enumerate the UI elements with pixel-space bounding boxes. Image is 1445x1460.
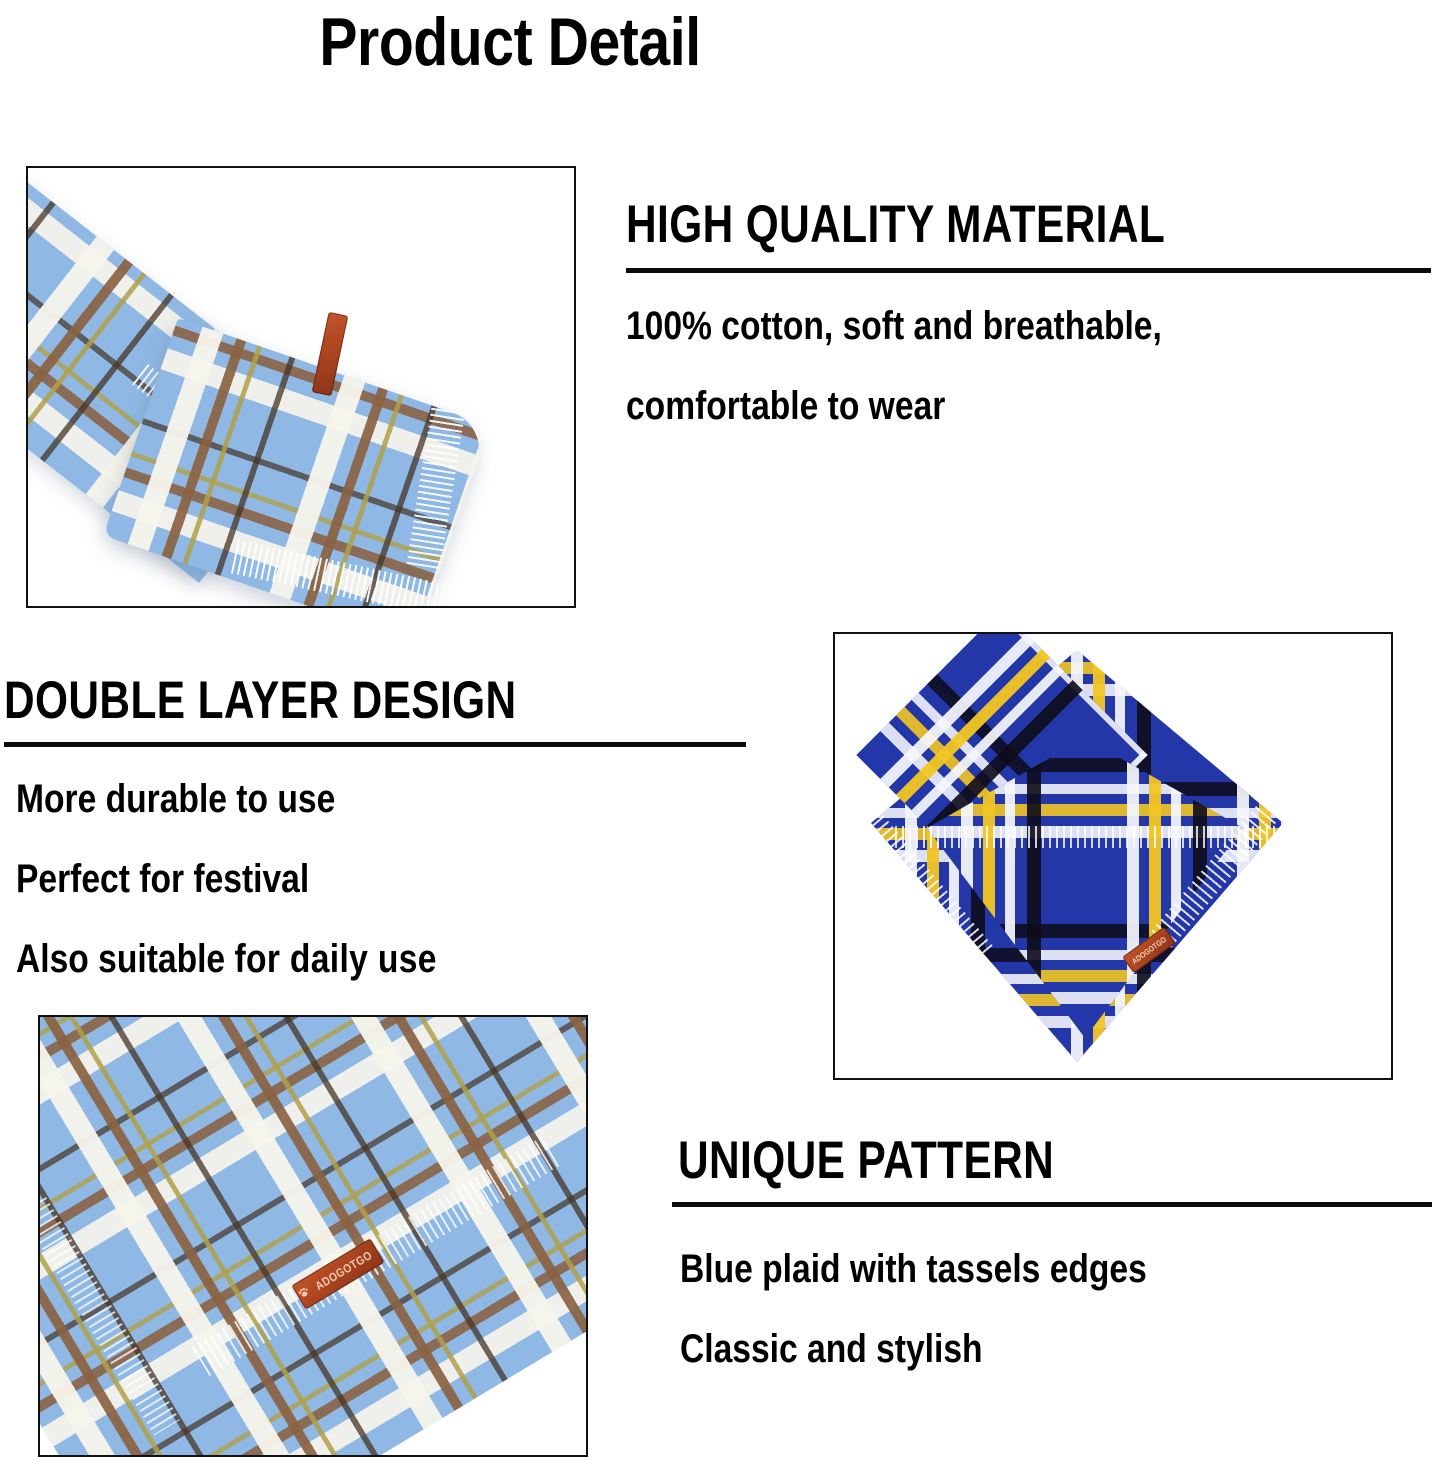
section-rule-unique-pattern <box>672 1202 1432 1207</box>
photo-inner: ADOGOTGO <box>835 634 1391 1078</box>
tassel-fringe-middle <box>895 826 1315 848</box>
product-photo-flat-light-blue-plaid: ADOGOTGO <box>38 1015 588 1457</box>
body-line-double-3-normal: Also suitable <box>16 937 234 981</box>
product-photo-folded-light-blue-bandana <box>26 166 576 608</box>
section-rule-high-quality-material <box>626 268 1431 273</box>
section-heading-double-layer-design: DOUBLE LAYER DESIGN <box>4 672 517 730</box>
body-line-double-2: Perfect for festival <box>16 856 309 902</box>
body-line-double-3: Also suitable for daily use <box>16 936 437 982</box>
body-line-pattern-2: Classic and stylish <box>680 1326 983 1372</box>
section-heading-high-quality-material: HIGH QUALITY MATERIAL <box>626 196 1165 254</box>
photo-inner <box>28 168 574 606</box>
plaid-flat-surface <box>40 1017 586 1455</box>
body-line-pattern-1: Blue plaid with tassels edges <box>680 1246 1147 1292</box>
section-rule-double-layer-design <box>4 742 746 747</box>
body-line-material-2: comfortable to wear <box>626 383 945 429</box>
body-line-material-1: 100% cotton, soft and breathable, <box>626 303 1162 349</box>
page-title: Product Detail <box>82 2 939 82</box>
body-line-double-1: More durable to use <box>16 776 335 822</box>
body-line-double-3-bold: for daily use <box>234 937 436 981</box>
section-heading-unique-pattern: UNIQUE PATTERN <box>678 1132 1054 1190</box>
photo-inner: ADOGOTGO <box>40 1017 586 1455</box>
product-photo-royal-blue-triangle-bandana: ADOGOTGO <box>833 632 1393 1080</box>
